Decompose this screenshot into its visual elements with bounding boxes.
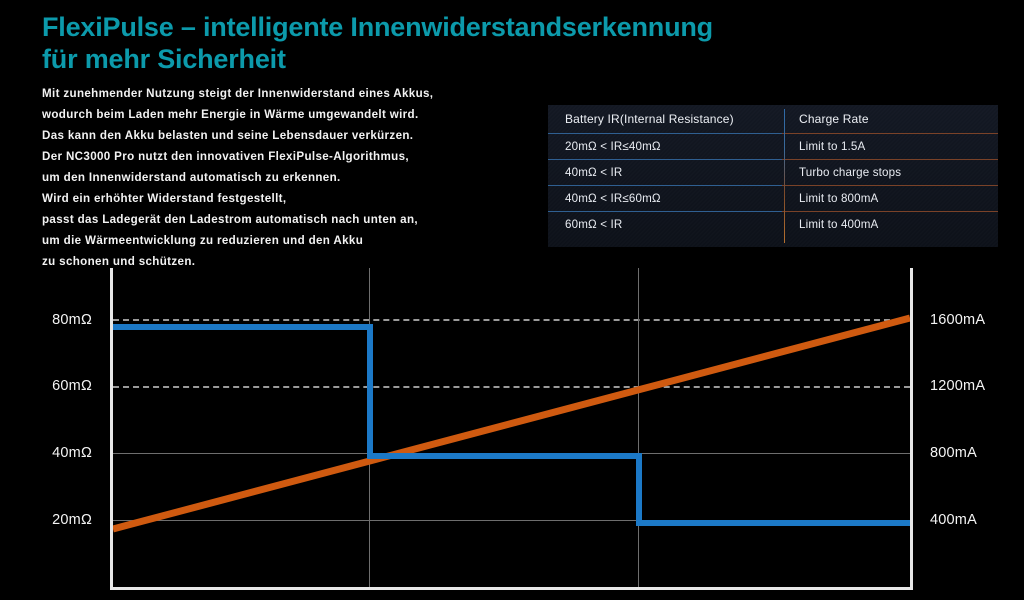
x-axis <box>110 587 913 590</box>
table-row: 40mΩ < IR Turbo charge stops <box>548 159 998 185</box>
internal-resistance-line <box>110 268 913 590</box>
table-cell-ir: 40mΩ < IR≤60mΩ <box>548 185 782 211</box>
y-axis-tick-left: 80mΩ <box>52 312 92 328</box>
y-axis-right <box>910 268 913 590</box>
ir-vs-charge-rate-chart: 80mΩ 60mΩ 40mΩ 20mΩ 1600mA 1200mA 800mA … <box>0 255 1024 600</box>
table-cell-rate: Limit to 800mA <box>782 185 998 211</box>
page-title: FlexiPulse – intelligente Innenwiderstan… <box>42 12 713 75</box>
table-header-battery-ir: Battery IR(Internal Resistance) <box>548 105 782 133</box>
intro-paragraph: Mit zunehmender Nutzung steigt der Innen… <box>42 83 433 146</box>
table-header-row: Battery IR(Internal Resistance) Charge R… <box>548 105 998 133</box>
table-cell-rate: Limit to 1.5A <box>782 133 998 159</box>
y-axis-left <box>110 268 113 590</box>
y-axis-tick-left: 60mΩ <box>52 378 92 394</box>
table-cell-rate: Limit to 400mA <box>782 211 998 237</box>
charge-rate-table: Battery IR(Internal Resistance) Charge R… <box>548 105 998 247</box>
table-cell-ir: 40mΩ < IR <box>548 159 782 185</box>
charge-rate-step-800 <box>367 453 642 459</box>
table-cell-ir: 20mΩ < IR≤40mΩ <box>548 133 782 159</box>
table-row: 60mΩ < IR Limit to 400mA <box>548 211 998 237</box>
slide-root: FlexiPulse – intelligente Innenwiderstan… <box>0 0 1024 600</box>
y-axis-tick-right: 800mA <box>930 445 977 461</box>
table-cell-rate: Turbo charge stops <box>782 159 998 185</box>
charge-rate-step-1550 <box>113 324 373 330</box>
y-axis-tick-left: 20mΩ <box>52 512 92 528</box>
charge-rate-drop-1 <box>367 324 373 459</box>
y-axis-tick-right: 1200mA <box>930 378 985 394</box>
table-header-charge-rate: Charge Rate <box>782 105 998 133</box>
charge-rate-step-400 <box>636 520 910 526</box>
y-axis-tick-right: 400mA <box>930 512 977 528</box>
table-row: 40mΩ < IR≤60mΩ Limit to 800mA <box>548 185 998 211</box>
y-axis-tick-right: 1600mA <box>930 312 985 328</box>
charge-rate-drop-2 <box>636 453 642 526</box>
y-axis-tick-left: 40mΩ <box>52 445 92 461</box>
table-column-divider <box>784 109 785 243</box>
table-row: 20mΩ < IR≤40mΩ Limit to 1.5A <box>548 133 998 159</box>
algorithm-paragraph: Der NC3000 Pro nutzt den innovativen Fle… <box>42 146 418 273</box>
table-cell-ir: 60mΩ < IR <box>548 211 782 237</box>
plot-area <box>110 268 913 590</box>
